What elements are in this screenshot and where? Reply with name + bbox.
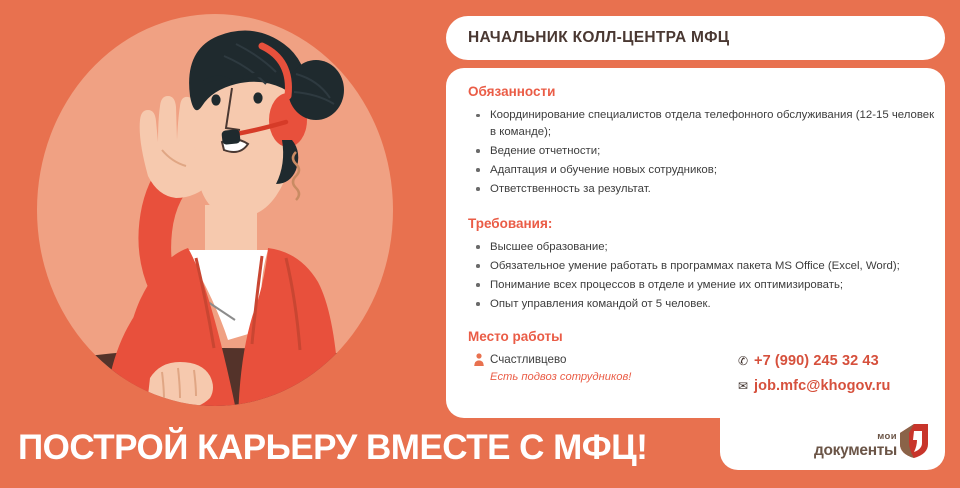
mfc-logo: мои документы — [814, 424, 928, 458]
logo-line-moi: мои — [814, 432, 897, 442]
mfc-shield-icon — [900, 424, 928, 458]
list-item: Координирование специалистов отдела теле… — [468, 107, 938, 140]
person-pin-icon — [473, 353, 485, 367]
logo-line-dokumenty: документы — [814, 443, 897, 459]
job-ad-poster: НАЧАЛЬНИК КОЛЛ-ЦЕНТРА МФЦ Обязанности Ко… — [0, 0, 960, 488]
section-heading-requirements: Требования: — [468, 216, 938, 231]
list-item: Адаптация и обучение новых сотрудников; — [468, 162, 938, 179]
workplace-location: Счастливцево — [490, 353, 566, 366]
list-item: Ответственность за результат. — [468, 181, 938, 198]
page-title: НАЧАЛЬНИК КОЛЛ-ЦЕНТРА МФЦ — [446, 29, 729, 47]
call-center-operator-illustration — [0, 0, 440, 425]
list-item: Обязательное умение работать в программа… — [468, 258, 938, 275]
requirements-list: Высшее образование; Обязательное умение … — [468, 239, 938, 313]
contact-card: ✆ +7 (990) 245 32 43 ✉ job.mfc@khogov.ru… — [720, 332, 945, 470]
email-row[interactable]: ✉ job.mfc@khogov.ru — [738, 375, 890, 397]
section-heading-responsibilities: Обязанности — [468, 84, 938, 99]
envelope-icon: ✉ — [738, 380, 754, 392]
responsibilities-list: Координирование специалистов отдела теле… — [468, 107, 938, 197]
phone-number[interactable]: +7 (990) 245 32 43 — [754, 353, 879, 369]
phone-row[interactable]: ✆ +7 (990) 245 32 43 — [738, 350, 890, 372]
list-item: Ведение отчетности; — [468, 143, 938, 160]
job-title-card: НАЧАЛЬНИК КОЛЛ-ЦЕНТРА МФЦ — [446, 16, 945, 60]
phone-icon: ✆ — [738, 355, 754, 367]
list-item: Понимание всех процессов в отделе и умен… — [468, 277, 938, 294]
list-item: Опыт управления командой от 5 человек. — [468, 296, 938, 313]
slogan: ПОСТРОЙ КАРЬЕРУ ВМЕСТЕ С МФЦ! — [18, 428, 647, 468]
list-item: Высшее образование; — [468, 239, 938, 256]
email-address[interactable]: job.mfc@khogov.ru — [754, 378, 890, 394]
